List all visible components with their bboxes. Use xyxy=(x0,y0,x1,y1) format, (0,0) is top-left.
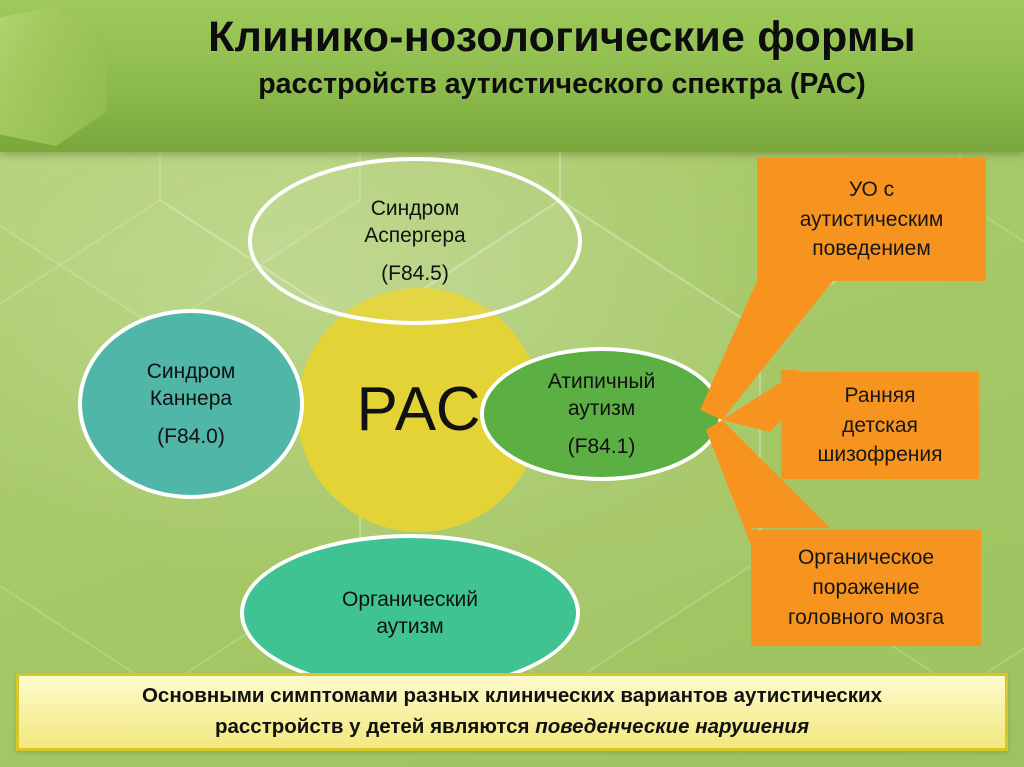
callout-schizo-line1: Ранняя xyxy=(845,381,916,411)
callout-organic-line1: Органическое xyxy=(798,543,934,573)
page-subtitle: расстройств аутистического спектра (РАС) xyxy=(110,69,1014,100)
callout-schizo-line3: шизофрения xyxy=(818,440,943,470)
footer-line-1: Основными симптомами разных клинических … xyxy=(142,681,882,712)
asperger-label-line1: Синдром xyxy=(371,195,460,222)
venn-ellipse-kanner[interactable]: Синдром Каннера (F84.0) xyxy=(78,309,304,499)
callout-organic-brain-damage[interactable]: Органическое поражение головного мозга xyxy=(751,530,981,646)
footer-line-2-italic: поведенческие нарушения xyxy=(535,715,809,738)
venn-ellipse-asperger[interactable]: Синдром Аспергера (F84.5) xyxy=(248,157,582,325)
header-text-block: Клинико-нозологические формы расстройств… xyxy=(110,14,1014,101)
venn-diagram: РАС Синдром Аспергера (F84.5) Синдром Ка… xyxy=(0,152,740,672)
footer-line-2-plain: расстройств у детей являются xyxy=(215,715,535,738)
callout-uo-line3: поведением xyxy=(812,234,931,264)
atypical-icd-code: (F84.1) xyxy=(568,433,636,460)
organic-label-line2: аутизм xyxy=(376,613,443,640)
kanner-label-line1: Синдром xyxy=(147,358,236,385)
atypical-label-line1: Атипичный xyxy=(548,368,655,395)
callout-uo-line2: аутистическим xyxy=(800,205,944,235)
atypical-label-line2: аутизм xyxy=(568,395,635,422)
organic-label-line1: Органический xyxy=(342,586,478,613)
venn-center-label: РАС xyxy=(357,370,482,451)
footer-summary-banner: Основными симптомами разных клинических … xyxy=(16,673,1008,751)
callout-early-childhood-schizophrenia[interactable]: Ранняя детская шизофрения xyxy=(781,372,979,479)
slide-root: Клинико-нозологические формы расстройств… xyxy=(0,0,1024,767)
kanner-icd-code: (F84.0) xyxy=(157,423,225,450)
asperger-label-line2: Аспергера xyxy=(364,222,465,249)
page-title: Клинико-нозологические формы xyxy=(110,14,1014,60)
asperger-icd-code: (F84.5) xyxy=(381,260,449,287)
callout-uo-line1: УО с xyxy=(849,175,894,205)
callout-organic-line3: головного мозга xyxy=(788,603,944,633)
venn-ellipse-atypical-autism[interactable]: Атипичный аутизм (F84.1) xyxy=(480,347,723,481)
callout-schizo-line2: детская xyxy=(842,411,918,441)
footer-line-2: расстройств у детей являются поведенческ… xyxy=(215,712,809,743)
header-banner: Клинико-нозологические формы расстройств… xyxy=(0,0,1024,152)
callout-uo-autistic-behaviour[interactable]: УО с аутистическим поведением xyxy=(757,158,986,281)
venn-ellipse-organic-autism[interactable]: Органический аутизм xyxy=(240,534,580,692)
hexagon-decor-icon xyxy=(0,6,106,146)
kanner-label-line2: Каннера xyxy=(150,385,232,412)
callout-organic-line2: поражение xyxy=(812,573,919,603)
